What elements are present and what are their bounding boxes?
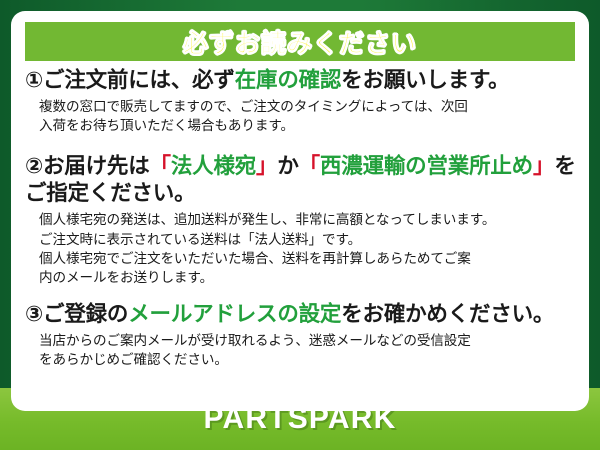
spacer [25, 291, 577, 301]
notice-item-marker: ① [25, 68, 43, 92]
heading-run-plain: ご注文前には、必ず [43, 68, 235, 92]
heading-run-green: 西濃運輸の営業所止め [320, 154, 533, 178]
notice-item-1-heading: ①ご注文前には、必ず在庫の確認をお願いします。 [25, 67, 577, 95]
notice-item-3-subtext: 当店からのご案内メールが受け取れるよう、迷惑メールなどの受信設定をあらかじめご確… [25, 331, 577, 370]
heading-run-plain: か [277, 154, 298, 178]
subtext-line: ご注文時に表示されている送料は「法人送料」です。 [39, 230, 577, 249]
subtext-line: をあらかじめご確認ください。 [39, 350, 577, 369]
spacer [25, 139, 577, 153]
subtext-line: 入荷をお待ち頂いただく場合もあります。 [39, 116, 577, 135]
notice-item-3-heading: ③ご登録のメールアドレスの設定をお確かめください。 [25, 301, 577, 329]
heading-run-red: 「 [150, 154, 171, 178]
subtext-line: 個人様宅宛でご注文をいただいた場合、送料を再計算しあらためてご案 [39, 249, 577, 268]
heading-run-green: 法人様宛 [171, 154, 256, 178]
notice-item-marker: ③ [25, 302, 43, 326]
subtext-line: 複数の窓口で販売してますので、ご注文のタイミングによっては、次回 [39, 97, 577, 116]
notice-header-title: 必ずお読みください [183, 24, 417, 60]
notice-banner: PARTSPARK 必ずお読みください ①ご注文前には、必ず在庫の確認をお願いし… [0, 0, 600, 450]
heading-run-green: メールアドレスの設定 [128, 302, 341, 326]
notice-item-2: ②お届け先は「法人様宛」か「西濃運輸の営業所止め」をご指定ください。 個人様宅宛… [25, 153, 577, 288]
notice-item-2-subtext: 個人様宅宛の発送は、追加送料が発生し、非常に高額となってしまいます。ご注文時に表… [25, 210, 577, 287]
heading-run-red: 」 [533, 154, 554, 178]
heading-run-plain: ご登録の [43, 302, 128, 326]
heading-run-plain: をお確かめください。 [341, 302, 554, 326]
heading-run-red: 「 [299, 154, 320, 178]
heading-run-green: 在庫の確認 [235, 68, 342, 92]
subtext-line: 個人様宅宛の発送は、追加送料が発生し、非常に高額となってしまいます。 [39, 210, 577, 229]
notice-list: ①ご注文前には、必ず在庫の確認をお願いします。 複数の窓口で販売してますので、ご… [11, 67, 589, 372]
notice-item-1-subtext: 複数の窓口で販売してますので、ご注文のタイミングによっては、次回入荷をお待ち頂い… [25, 97, 577, 136]
notice-item-2-heading: ②お届け先は「法人様宛」か「西濃運輸の営業所止め」をご指定ください。 [25, 153, 577, 209]
notice-item-1: ①ご注文前には、必ず在庫の確認をお願いします。 複数の窓口で販売してますので、ご… [25, 67, 577, 136]
notice-item-marker: ② [25, 154, 43, 178]
subtext-line: 内のメールをお送りします。 [39, 268, 577, 287]
subtext-line: 当店からのご案内メールが受け取れるよう、迷惑メールなどの受信設定 [39, 331, 577, 350]
heading-run-plain: お届け先は [43, 154, 150, 178]
notice-item-3: ③ご登録のメールアドレスの設定をお確かめください。 当店からのご案内メールが受け… [25, 301, 577, 370]
notice-header-bar: 必ずお読みください [25, 22, 575, 61]
notice-card: 必ずお読みください ①ご注文前には、必ず在庫の確認をお願いします。 複数の窓口で… [11, 11, 589, 411]
heading-run-red: 」 [256, 154, 277, 178]
heading-run-plain: をお願いします。 [341, 68, 509, 92]
